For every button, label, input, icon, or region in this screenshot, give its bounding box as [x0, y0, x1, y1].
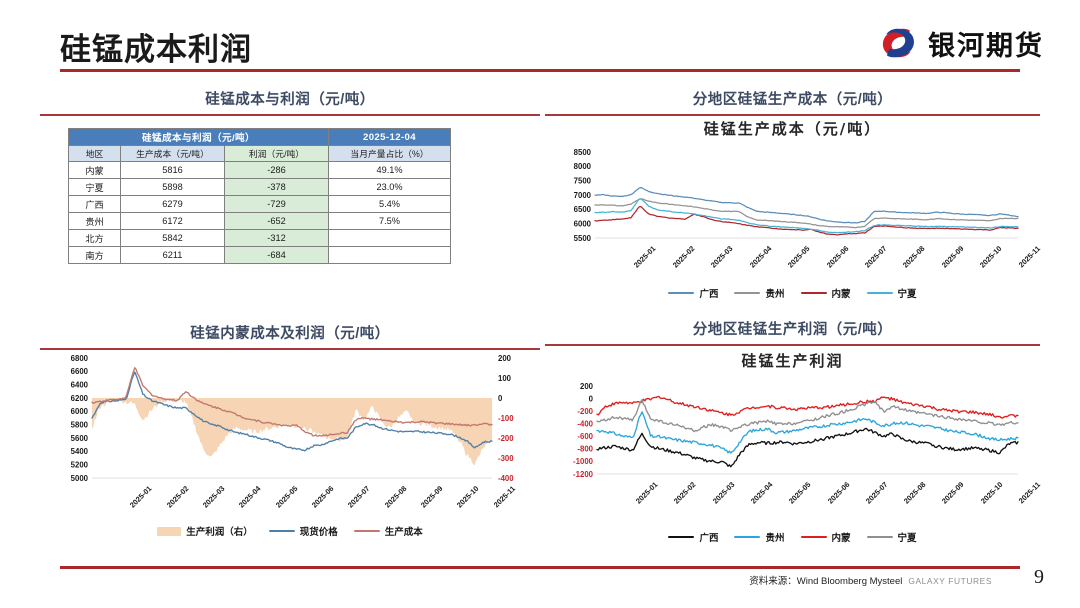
legend-item: 内蒙: [801, 530, 851, 544]
legend-item: 生产利润（右）: [157, 524, 253, 538]
panel-title-profit-by-region: 分地区硅锰生产利润（元/吨）: [545, 318, 1040, 344]
legend-swatch-icon: [668, 292, 694, 295]
legend-swatch-icon: [867, 292, 893, 295]
cell-profit: -684: [225, 247, 329, 264]
panel-profit-by-region: 分地区硅锰生产利润（元/吨）: [545, 318, 1040, 346]
cell-cost: 6211: [121, 247, 225, 264]
legend-item: 内蒙: [801, 286, 851, 300]
legend-swatch-icon: [354, 530, 380, 533]
column-header-region: 地区: [69, 146, 121, 162]
panel-divider: [40, 348, 540, 350]
legend-swatch-icon: [801, 292, 827, 295]
legend-swatch-icon: [157, 527, 181, 536]
legend-label: 生产成本: [385, 524, 423, 538]
footer-brand: GALAXY FUTURES: [908, 576, 992, 586]
chart-title: 硅锰生产成本（元/吨）: [545, 118, 1040, 139]
legend-item: 宁夏: [867, 286, 917, 300]
cell-region: 宁夏: [69, 179, 121, 196]
cell-share: 49.1%: [329, 162, 451, 179]
table-header-row-main: 硅锰成本与利润（元/吨） 2025-12-04: [69, 129, 451, 146]
chart-plot: 2000-200-400-600-800-1000-1200: [545, 380, 1040, 502]
y-axis-tick: 6500: [574, 205, 592, 214]
panel-inner-mongolia: 硅锰内蒙成本及利润（元/吨）: [40, 322, 540, 350]
legend-swatch-icon: [801, 536, 827, 539]
chart-legend: 广西贵州内蒙宁夏: [545, 530, 1040, 544]
table-row: 宁夏 5898 -378 23.0%: [69, 179, 451, 196]
legend-item: 生产成本: [354, 524, 423, 538]
panel-cost-by-region: 分地区硅锰生产成本（元/吨）: [545, 88, 1040, 116]
legend-swatch-icon: [734, 536, 760, 539]
chart-legend: 生产利润（右）现货价格生产成本: [40, 524, 540, 538]
chart-line-series: [597, 412, 1018, 453]
legend-label: 宁夏: [898, 530, 917, 544]
y-axis-right-tick: 200: [498, 354, 512, 363]
y-axis-tick: 5000: [71, 474, 89, 483]
legend-item: 广西: [668, 286, 718, 300]
y-axis-tick: 6000: [71, 407, 89, 416]
legend-label: 内蒙: [832, 530, 851, 544]
y-axis-tick: 6400: [71, 380, 89, 389]
y-axis-tick: -200: [577, 407, 593, 416]
panel-cost-and-profit: 硅锰成本与利润（元/吨）: [40, 88, 540, 116]
legend-swatch-icon: [668, 536, 694, 539]
legend-label: 内蒙: [832, 286, 851, 300]
page-number: 9: [1034, 566, 1044, 589]
panel-title-cost-and-profit: 硅锰成本与利润（元/吨）: [40, 88, 540, 114]
legend-swatch-icon: [734, 292, 760, 295]
y-axis-tick: 5400: [71, 447, 89, 456]
y-axis-tick: 0: [589, 394, 594, 403]
brand-name: 银河期货: [928, 24, 1044, 63]
table-header-row-sub: 地区 生产成本（元/吨） 利润（元/吨） 当月产量占比（%）: [69, 146, 451, 162]
y-axis-right-tick: 100: [498, 374, 512, 383]
chart-plot: 5500600065007000750080008500: [545, 148, 1040, 270]
cell-region: 贵州: [69, 213, 121, 230]
y-axis-tick: 6600: [71, 367, 89, 376]
cell-share: 5.4%: [329, 196, 451, 213]
footer-divider: [60, 566, 1020, 569]
table-row: 广西 6279 -729 5.4%: [69, 196, 451, 213]
cell-profit: -286: [225, 162, 329, 179]
panel-divider: [40, 114, 540, 116]
chart-area-series: [92, 398, 492, 465]
panel-title-cost-by-region: 分地区硅锰生产成本（元/吨）: [545, 88, 1040, 114]
table-row: 贵州 6172 -652 7.5%: [69, 213, 451, 230]
table-row: 南方 6211 -684: [69, 247, 451, 264]
y-axis-tick: 5200: [71, 460, 89, 469]
legend-label: 宁夏: [898, 286, 917, 300]
cell-share: 23.0%: [329, 179, 451, 196]
chart-line-series: [597, 428, 1018, 466]
y-axis-tick: 5800: [71, 420, 89, 429]
cell-region: 北方: [69, 230, 121, 247]
y-axis-tick: -800: [577, 445, 593, 454]
page-title: 硅锰成本利润: [60, 24, 252, 69]
cell-region: 南方: [69, 247, 121, 264]
y-axis-tick: 5500: [574, 234, 592, 243]
brand-logo: 银河期货: [877, 22, 1044, 64]
page-header: 硅锰成本利润 银河期货: [0, 0, 1080, 80]
table-header-date: 2025-12-04: [329, 129, 451, 146]
y-axis-right-tick: -400: [498, 474, 514, 483]
legend-label: 生产利润（右）: [186, 524, 253, 538]
y-axis-tick: -1000: [573, 457, 594, 466]
legend-label: 广西: [699, 530, 718, 544]
cell-profit: -378: [225, 179, 329, 196]
panel-divider: [545, 344, 1040, 346]
cell-share: [329, 247, 451, 264]
y-axis-right-tick: -100: [498, 414, 514, 423]
y-axis-tick: 5600: [71, 434, 89, 443]
y-axis-right-tick: 0: [498, 394, 503, 403]
cell-cost: 5898: [121, 179, 225, 196]
cell-region: 广西: [69, 196, 121, 213]
legend-item: 贵州: [734, 286, 784, 300]
legend-item: 广西: [668, 530, 718, 544]
chart-title: 硅锰生产利润: [545, 350, 1040, 371]
cell-profit: -652: [225, 213, 329, 230]
cell-cost: 6279: [121, 196, 225, 213]
y-axis-right-tick: -200: [498, 434, 514, 443]
legend-item: 现货价格: [269, 524, 338, 538]
table-header-title: 硅锰成本与利润（元/吨）: [69, 129, 329, 146]
cell-profit: -729: [225, 196, 329, 213]
chart-line-series: [597, 397, 1018, 419]
y-axis-tick: 6000: [574, 219, 592, 228]
footer-source-text: 资料来源：Wind Bloomberg Mysteel: [749, 576, 902, 587]
chart-profit-by-region: 硅锰生产利润 2000-200-400-600-800-1000-1200202…: [545, 350, 1040, 555]
y-axis-right-tick: -300: [498, 454, 514, 463]
table-row: 内蒙 5816 -286 49.1%: [69, 162, 451, 179]
legend-label: 贵州: [765, 286, 784, 300]
cell-cost: 6172: [121, 213, 225, 230]
panel-title-inner-mongolia: 硅锰内蒙成本及利润（元/吨）: [40, 322, 540, 348]
chart-cost-by-region: 硅锰生产成本（元/吨） 5500600065007000750080008500…: [545, 116, 1040, 311]
footer-source: 资料来源：Wind Bloomberg MysteelGALAXY FUTURE…: [749, 573, 992, 587]
table-row: 北方 5842 -312: [69, 230, 451, 247]
cell-profit: -312: [225, 230, 329, 247]
y-axis-tick: -600: [577, 432, 593, 441]
column-header-profit: 利润（元/吨）: [225, 146, 329, 162]
legend-label: 广西: [699, 286, 718, 300]
legend-label: 贵州: [765, 530, 784, 544]
column-header-cost: 生产成本（元/吨）: [121, 146, 225, 162]
legend-swatch-icon: [867, 536, 893, 539]
chart-line-series: [597, 400, 1018, 432]
chart-inner-mongolia-cost-profit: 5000520054005600580060006200640066006800…: [40, 352, 540, 552]
y-axis-tick: 8000: [574, 162, 592, 171]
galaxy-futures-logo-icon: [877, 22, 919, 64]
y-axis-tick: 7500: [574, 176, 592, 185]
legend-swatch-icon: [269, 530, 295, 533]
cell-share: 7.5%: [329, 213, 451, 230]
legend-label: 现货价格: [300, 524, 338, 538]
y-axis-tick: 6800: [71, 354, 89, 363]
cost-profit-table: 硅锰成本与利润（元/吨） 2025-12-04 地区 生产成本（元/吨） 利润（…: [68, 128, 451, 264]
chart-legend: 广西贵州内蒙宁夏: [545, 286, 1040, 300]
column-header-share: 当月产量占比（%）: [329, 146, 451, 162]
cell-region: 内蒙: [69, 162, 121, 179]
chart-line-series: [595, 206, 1018, 234]
legend-item: 宁夏: [867, 530, 917, 544]
y-axis-tick: -1200: [573, 470, 594, 479]
cell-share: [329, 230, 451, 247]
y-axis-tick: 7000: [574, 191, 592, 200]
chart-plot: 5000520054005600580060006200640066006800…: [40, 352, 540, 502]
y-axis-tick: 200: [580, 382, 594, 391]
chart-line-series: [595, 188, 1018, 223]
cell-cost: 5842: [121, 230, 225, 247]
y-axis-tick: 8500: [574, 148, 592, 157]
y-axis-tick: 6200: [71, 394, 89, 403]
legend-item: 贵州: [734, 530, 784, 544]
title-divider: [60, 69, 1020, 72]
cell-cost: 5816: [121, 162, 225, 179]
y-axis-tick: -400: [577, 420, 593, 429]
